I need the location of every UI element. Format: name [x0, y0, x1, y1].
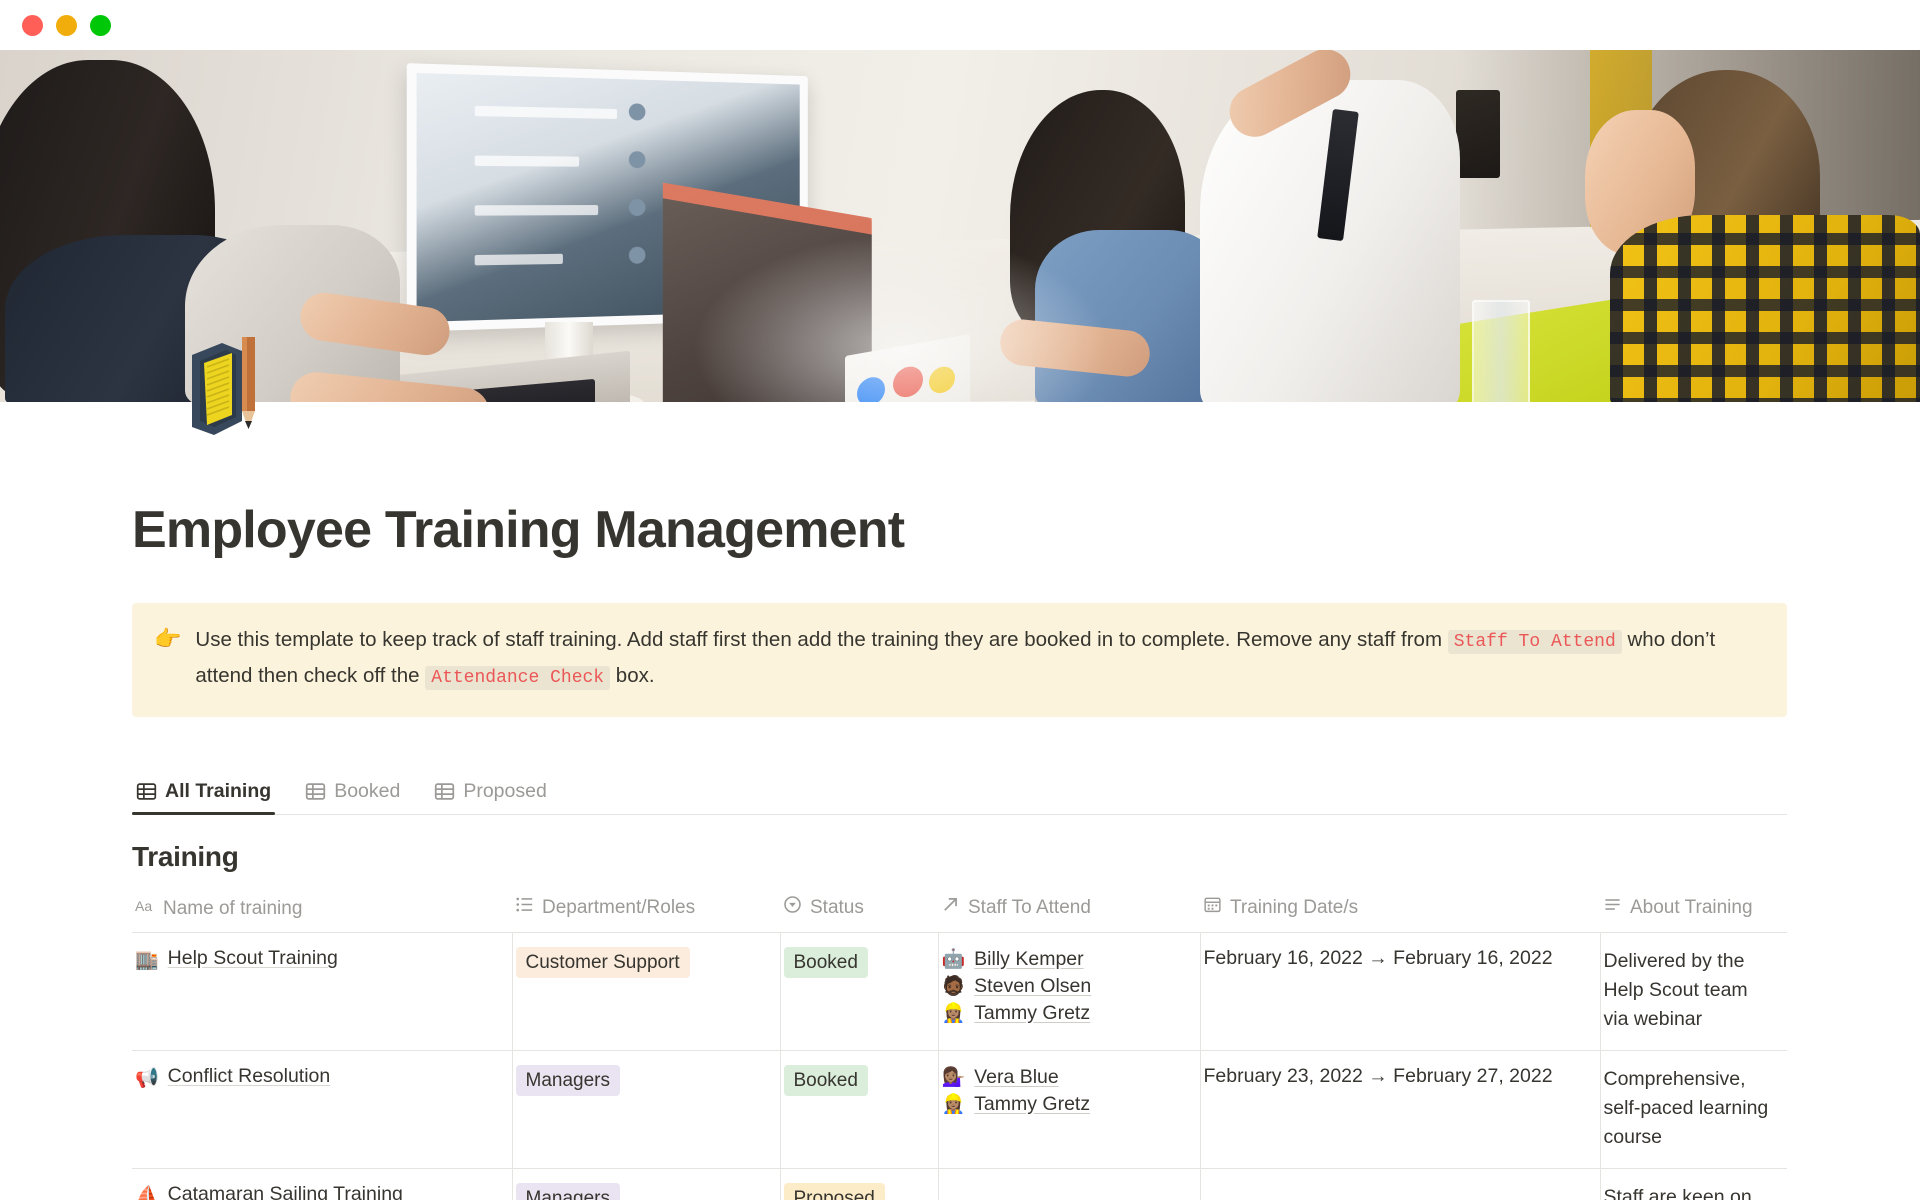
- relation-icon: [941, 895, 960, 920]
- cover-scene: [0, 50, 1920, 402]
- staff-link[interactable]: Vera Blue: [974, 1066, 1059, 1089]
- avatar: 👷🏽‍♀️: [942, 1092, 966, 1116]
- table-row[interactable]: ⛵ Catamaran Sailing Training Managers Pr…: [132, 1169, 1787, 1200]
- tab-proposed[interactable]: Proposed: [430, 780, 550, 814]
- tab-booked-label: Booked: [334, 780, 400, 803]
- status-badge: Booked: [784, 947, 868, 978]
- page-title[interactable]: Employee Training Management: [132, 500, 1920, 560]
- column-header-training-dates[interactable]: Training Date/s: [1200, 887, 1600, 933]
- callout-block[interactable]: 👉 Use this template to keep track of sta…: [132, 603, 1787, 717]
- svg-text:Aa: Aa: [135, 898, 152, 914]
- close-window-button[interactable]: [22, 15, 43, 36]
- avatar: 💁🏽‍♀️: [942, 1065, 966, 1089]
- page-cover-image[interactable]: [0, 50, 1920, 402]
- staff-link[interactable]: Steven Olsen: [974, 975, 1091, 998]
- cover-picture-frame-2: [1456, 90, 1500, 178]
- cell-training-dates[interactable]: [1200, 1169, 1600, 1200]
- staff-link[interactable]: Tammy Gretz: [974, 1002, 1090, 1025]
- column-header-about-training[interactable]: About Training: [1600, 887, 1787, 933]
- row-emoji-icon: 🏬: [135, 947, 159, 974]
- column-header-status-label: Status: [810, 897, 864, 919]
- cell-staff-to-attend[interactable]: 🤖 Billy Kemper 🧔🏾 Steven Olsen 👷🏽‍♀️ Tam…: [938, 933, 1200, 1051]
- list-item[interactable]: 👷🏽‍♀️ Tammy Gretz: [942, 1001, 1186, 1025]
- cover-person-5-plaid-shirt: [1610, 215, 1920, 402]
- cell-staff-to-attend[interactable]: 💁🏽‍♀️ Vera Blue 👷🏽‍♀️ Tammy Gretz: [938, 1051, 1200, 1169]
- avatar: 🤖: [942, 947, 966, 971]
- cell-name-of-training[interactable]: 🏬 Help Scout Training: [132, 933, 512, 1051]
- staff-link[interactable]: Billy Kemper: [974, 948, 1083, 971]
- pointing-right-hand-icon: 👉: [154, 623, 181, 654]
- column-header-name-of-training[interactable]: Aa Name of training: [132, 887, 512, 933]
- callout-line1-text: Use this template to keep track of staff…: [195, 628, 1442, 651]
- status-icon: [783, 895, 802, 920]
- multi-select-icon: [515, 895, 534, 920]
- tab-all-training[interactable]: All Training: [132, 780, 275, 814]
- column-header-staff-to-attend-label: Staff To Attend: [968, 897, 1091, 919]
- database-table: Aa Name of training: [132, 887, 1787, 1200]
- list-item[interactable]: 🤖 Billy Kemper: [942, 947, 1186, 971]
- table-icon: [136, 781, 157, 802]
- text-icon: [1603, 895, 1622, 920]
- title-text-icon: Aa: [135, 898, 155, 920]
- status-badge: Booked: [784, 1065, 868, 1096]
- cell-status[interactable]: Proposed: [780, 1169, 938, 1200]
- callout-text: Use this template to keep track of staff…: [195, 623, 1765, 695]
- window-traffic-lights: [22, 15, 111, 36]
- column-header-department-roles-label: Department/Roles: [542, 897, 695, 919]
- cell-status[interactable]: Booked: [780, 1051, 938, 1169]
- row-title-link[interactable]: Conflict Resolution: [168, 1065, 331, 1088]
- list-item[interactable]: 💁🏽‍♀️ Vera Blue: [942, 1065, 1186, 1089]
- table-header-row: Aa Name of training: [132, 887, 1787, 933]
- list-item[interactable]: 🧔🏾 Steven Olsen: [942, 974, 1186, 998]
- department-tag: Managers: [516, 1065, 621, 1096]
- department-tag: Managers: [516, 1183, 621, 1200]
- row-title-link[interactable]: Catamaran Sailing Training: [168, 1183, 403, 1200]
- cell-department-roles[interactable]: Managers: [512, 1169, 780, 1200]
- cover-water-glass: [1472, 300, 1530, 402]
- column-header-staff-to-attend[interactable]: Staff To Attend: [938, 887, 1200, 933]
- cell-name-of-training[interactable]: ⛵ Catamaran Sailing Training: [132, 1169, 512, 1200]
- cell-about-training[interactable]: Comprehensive, self-paced learning cours…: [1600, 1051, 1787, 1169]
- avatar: 🧔🏾: [942, 974, 966, 998]
- table-icon: [305, 781, 326, 802]
- app-window: Employee Training Management 👉 Use this …: [0, 0, 1920, 1200]
- row-emoji-icon: ⛵: [135, 1183, 159, 1200]
- window-title-bar: [0, 0, 1920, 50]
- callout-code-staff-to-attend: Staff To Attend: [1448, 630, 1622, 654]
- cell-name-of-training[interactable]: 📢 Conflict Resolution: [132, 1051, 512, 1169]
- calendar-icon: [1203, 895, 1222, 920]
- column-header-about-training-label: About Training: [1630, 897, 1753, 919]
- table-row[interactable]: 🏬 Help Scout Training Customer Support B…: [132, 933, 1787, 1051]
- tab-proposed-label: Proposed: [463, 780, 546, 803]
- page-content: Employee Training Management 👉 Use this …: [0, 500, 1920, 1200]
- notepad-pencil-icon[interactable]: [180, 337, 276, 441]
- maximize-window-button[interactable]: [90, 15, 111, 36]
- callout-code-attendance-check: Attendance Check: [425, 666, 610, 690]
- table-row[interactable]: 📢 Conflict Resolution Managers Booked: [132, 1051, 1787, 1169]
- cell-about-training[interactable]: Delivered by the Help Scout team via web…: [1600, 933, 1787, 1051]
- column-header-status[interactable]: Status: [780, 887, 938, 933]
- cell-department-roles[interactable]: Customer Support: [512, 933, 780, 1051]
- table-icon: [434, 781, 455, 802]
- status-badge: Proposed: [784, 1183, 885, 1200]
- tab-booked[interactable]: Booked: [301, 780, 404, 814]
- column-header-training-dates-label: Training Date/s: [1230, 897, 1358, 919]
- database-title[interactable]: Training: [132, 841, 1920, 873]
- minimize-window-button[interactable]: [56, 15, 77, 36]
- row-title-link[interactable]: Help Scout Training: [168, 947, 338, 970]
- cell-status[interactable]: Booked: [780, 933, 938, 1051]
- column-header-department-roles[interactable]: Department/Roles: [512, 887, 780, 933]
- cell-about-training[interactable]: Staff are keen on this. Unsure of: [1600, 1169, 1787, 1200]
- callout-line2-tail: box.: [616, 664, 655, 687]
- row-emoji-icon: 📢: [135, 1065, 159, 1092]
- cell-training-dates[interactable]: February 23, 2022 → February 27, 2022: [1200, 1051, 1600, 1169]
- database-view-tabs: All Training Booked: [132, 769, 1787, 815]
- cell-department-roles[interactable]: Managers: [512, 1051, 780, 1169]
- staff-link[interactable]: Tammy Gretz: [974, 1093, 1090, 1116]
- cell-training-dates[interactable]: February 16, 2022 → February 16, 2022: [1200, 933, 1600, 1051]
- department-tag: Customer Support: [516, 947, 690, 978]
- list-item[interactable]: 👷🏽‍♀️ Tammy Gretz: [942, 1092, 1186, 1116]
- avatar: 👷🏽‍♀️: [942, 1001, 966, 1025]
- cover-laptop-dark: [663, 183, 872, 402]
- cell-staff-to-attend[interactable]: [938, 1169, 1200, 1200]
- column-header-name-of-training-label: Name of training: [163, 898, 302, 920]
- tab-all-training-label: All Training: [165, 780, 271, 803]
